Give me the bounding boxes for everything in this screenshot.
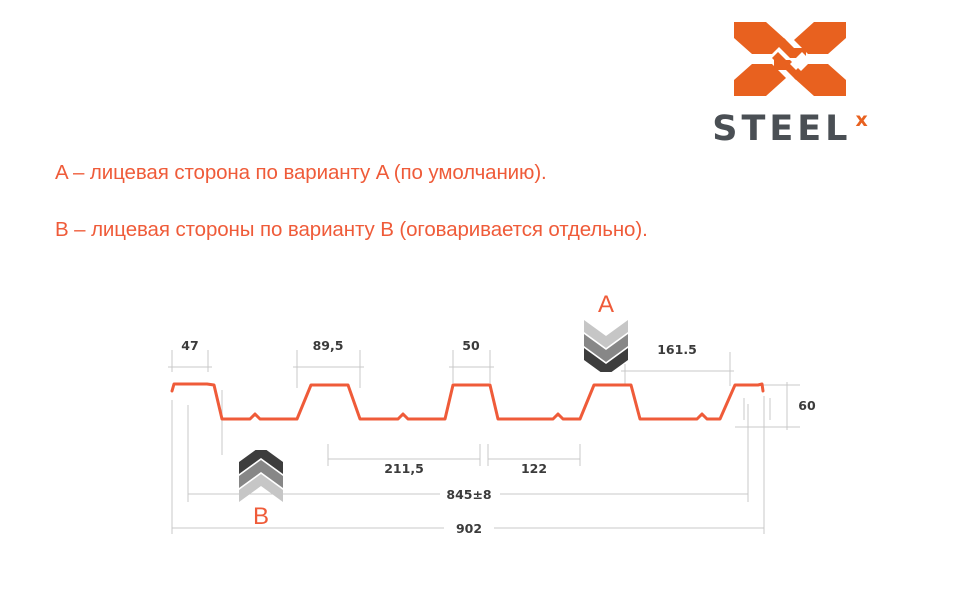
dim-50-label: 50	[462, 338, 479, 353]
dim-60-label: 60	[798, 398, 815, 413]
dim-60-group	[735, 382, 800, 430]
marker-a-chevrons-down-icon	[578, 318, 634, 372]
dim-161-5-label: 161.5	[657, 342, 697, 357]
dim-47-group	[168, 350, 212, 372]
dim-122-label: 122	[521, 461, 547, 476]
dim-50-group	[449, 350, 494, 383]
dim-161-5-group	[621, 352, 734, 386]
dim-845-label: 845±8	[446, 487, 491, 502]
marker-b-chevrons-up-icon	[233, 450, 289, 504]
dim-211-5-label: 211,5	[384, 461, 424, 476]
diagram-page: STEEL x A – лицевая сторона по варианту …	[0, 0, 970, 597]
marker-b-label: B	[233, 504, 289, 530]
sheet-profile-outline	[172, 384, 763, 419]
marker-a-label: A	[578, 292, 634, 318]
profile-technical-drawing	[0, 0, 970, 597]
dim-47-label: 47	[181, 338, 198, 353]
dim-902-label: 902	[456, 521, 482, 536]
marker-b: B	[233, 450, 289, 530]
marker-a: A	[578, 292, 634, 372]
dim-89-5-label: 89,5	[313, 338, 344, 353]
dim-89-5-group	[293, 350, 364, 388]
